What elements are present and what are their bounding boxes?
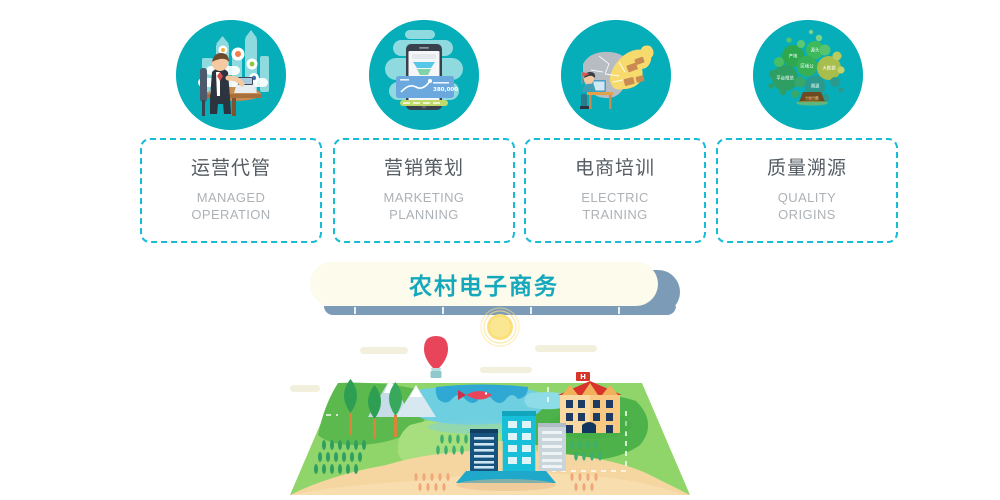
card-en-line2: PLANNING [384,206,465,224]
card-en-line1: QUALITY [778,189,836,207]
card-title-cn: 电商培训 [575,157,655,182]
marketing-planning-icon[interactable]: 380,000 [369,20,479,130]
svg-text:区域公: 区域公 [800,63,814,70]
hot-air-balloon-icon [424,336,448,378]
card-title-cn: 质量溯源 [767,157,847,182]
rural-landscape-illustration: H [290,305,690,500]
electric-training-icon[interactable] [561,20,671,130]
banner-plate: 农村电子商务 [310,262,658,306]
card-en-line2: ORIGINS [778,206,836,224]
feature-cards-row: 运营代管 MANAGED OPERATION 营销策划 MARKETING PL… [0,138,1000,243]
card-en-line1: MARKETING [384,189,465,207]
card-en-line1: MANAGED [191,189,270,207]
infographic-root: 380,000 [0,0,1000,500]
icon-circles-row: 380,000 [0,0,1000,140]
svg-text:源头: 源头 [811,47,820,54]
card-title-en: MARKETING PLANNING [384,189,465,224]
svg-text:380,000: 380,000 [433,87,458,93]
svg-text:溯源: 溯源 [811,83,820,90]
feature-card-managed-operation[interactable]: 运营代管 MANAGED OPERATION [140,138,322,243]
card-title-en: MANAGED OPERATION [191,189,270,224]
card-title-cn: 营销策划 [384,157,464,182]
card-title-en: QUALITY ORIGINS [778,189,836,224]
svg-text:产地: 产地 [789,53,798,60]
svg-text:平台规范: 平台规范 [776,75,794,82]
page-title: 农村电子商务 [409,267,559,301]
card-en-line1: ELECTRIC [581,189,649,207]
card-en-line2: TRAINING [581,206,649,224]
feature-card-marketing-planning[interactable]: 营销策划 MARKETING PLANNING [333,138,515,243]
managed-operation-icon[interactable] [176,20,286,130]
card-title-cn: 运营代管 [191,157,271,182]
svg-text:大数据: 大数据 [822,65,836,72]
sun-icon [481,308,519,346]
card-title-en: ELECTRIC TRAINING [581,189,649,224]
quality-origins-icon[interactable]: 产地 源头 区域公 大数据 平台规范 溯源 一乡一品 [753,20,863,130]
hotel-sign-letter: H [580,373,586,381]
svg-text:一乡一品: 一乡一品 [806,96,819,100]
card-en-line2: OPERATION [191,206,270,224]
feature-card-quality-origins[interactable]: 质量溯源 QUALITY ORIGINS [716,138,898,243]
feature-card-electric-training[interactable]: 电商培训 ELECTRIC TRAINING [524,138,706,243]
